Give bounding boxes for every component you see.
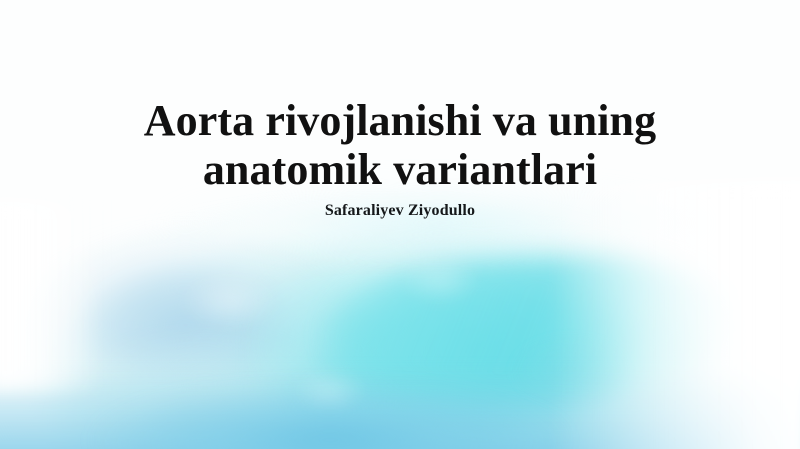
title-text-block: Aorta rivojlanishi va uning anatomik var… [0, 0, 800, 220]
watercolor-mottle-texture [140, 250, 660, 430]
watercolor-right-fade [550, 180, 800, 449]
watercolor-lavender-lobe [55, 330, 355, 449]
watercolor-left-fade [0, 200, 100, 390]
slide-title-line-1: Aorta rivojlanishi va uning [0, 96, 800, 145]
slide-title-line-2: anatomik variantlari [0, 145, 800, 194]
watercolor-bottom-band [0, 368, 800, 449]
slide-title: Aorta rivojlanishi va uning anatomik var… [0, 0, 800, 195]
watercolor-bottom-pool [90, 385, 570, 449]
slide-subtitle-author: Safaraliyev Ziyodullo [0, 195, 800, 220]
presentation-title-slide: Aorta rivojlanishi va uning anatomik var… [0, 0, 800, 449]
watercolor-teal-streak [330, 255, 730, 405]
watercolor-lavender-blob [20, 225, 350, 425]
watercolor-cyan-core [250, 230, 730, 449]
